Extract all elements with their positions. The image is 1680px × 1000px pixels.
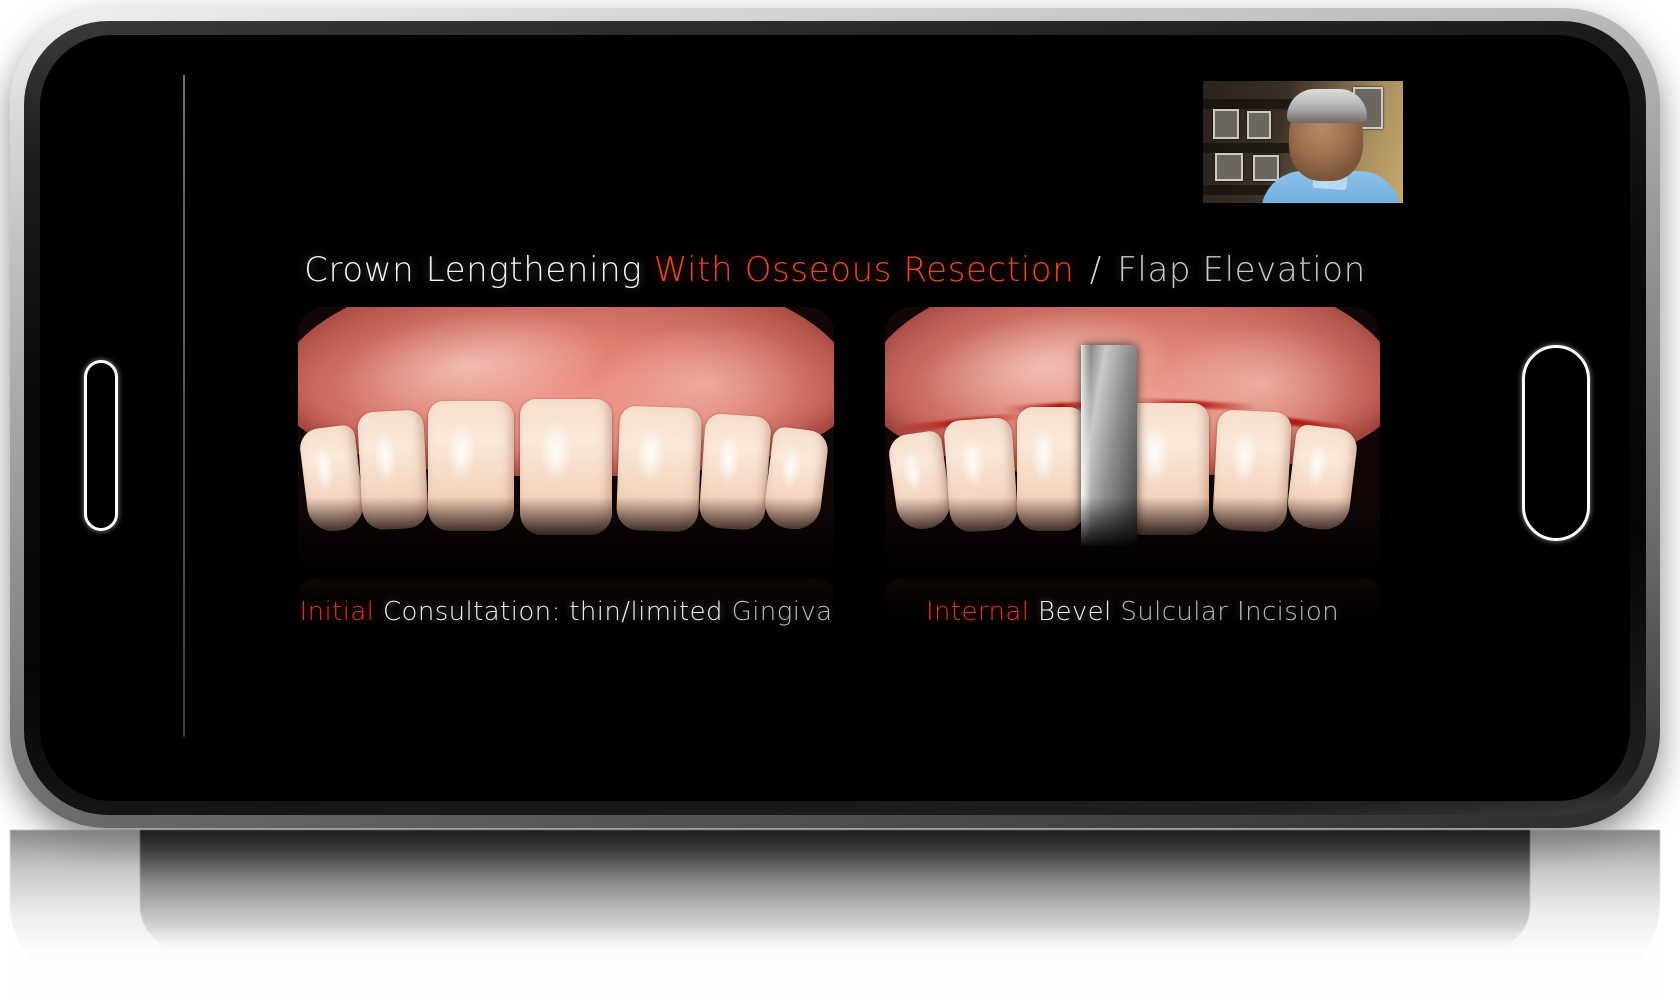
screenshot-root: Crown Lengthening With Osseous Resection… — [0, 0, 1680, 1000]
title-part-crown-lengthening: Crown Lengthening — [304, 250, 642, 290]
left-side-button[interactable] — [84, 360, 118, 531]
internal-bevel-incision-photo[interactable] — [885, 307, 1380, 579]
mouth-illustration-left — [298, 307, 834, 579]
oral-cavity-shadow-left — [298, 497, 834, 579]
wall-picture-1 — [1213, 109, 1239, 139]
caption-right-tail: Sulcular Incision — [1120, 597, 1339, 627]
participant-hair — [1287, 89, 1367, 123]
slide-title: Crown Lengthening With Osseous Resection… — [40, 250, 1630, 290]
caption-left-main: Consultation: thin/limited — [383, 597, 723, 627]
clinical-photo-row — [40, 307, 1630, 587]
device-surface-reflection — [10, 830, 1660, 998]
caption-left-tail: Gingiva — [732, 597, 833, 627]
wall-picture-4 — [1253, 155, 1279, 181]
title-part-flap-elevation: Flap Elevation — [1117, 250, 1366, 290]
initial-consultation-photo[interactable] — [298, 307, 834, 579]
caption-right-accent: Internal — [926, 597, 1029, 627]
wall-picture-2 — [1247, 111, 1271, 139]
caption-right-main: Bevel — [1038, 597, 1112, 627]
device-screen[interactable]: Crown Lengthening With Osseous Resection… — [40, 35, 1630, 801]
title-part-osseous-resection: With Osseous Resection — [654, 250, 1075, 290]
device-bezel-inner: Crown Lengthening With Osseous Resection… — [24, 21, 1646, 815]
mouth-illustration-right — [885, 307, 1380, 579]
caption-internal-bevel: Internal Bevel Sulcular Incision — [885, 597, 1380, 627]
title-separator: / — [1086, 250, 1106, 290]
right-side-button[interactable] — [1522, 345, 1590, 541]
caption-initial-consultation: Initial Consultation: thin/limited Gingi… — [298, 597, 834, 627]
caption-left-accent: Initial — [300, 597, 375, 627]
oral-cavity-shadow-right — [885, 497, 1380, 579]
participant-video-tile[interactable] — [1203, 81, 1403, 203]
wall-picture-3 — [1215, 153, 1243, 181]
tablet-device-frame: Crown Lengthening With Osseous Resection… — [10, 8, 1660, 828]
